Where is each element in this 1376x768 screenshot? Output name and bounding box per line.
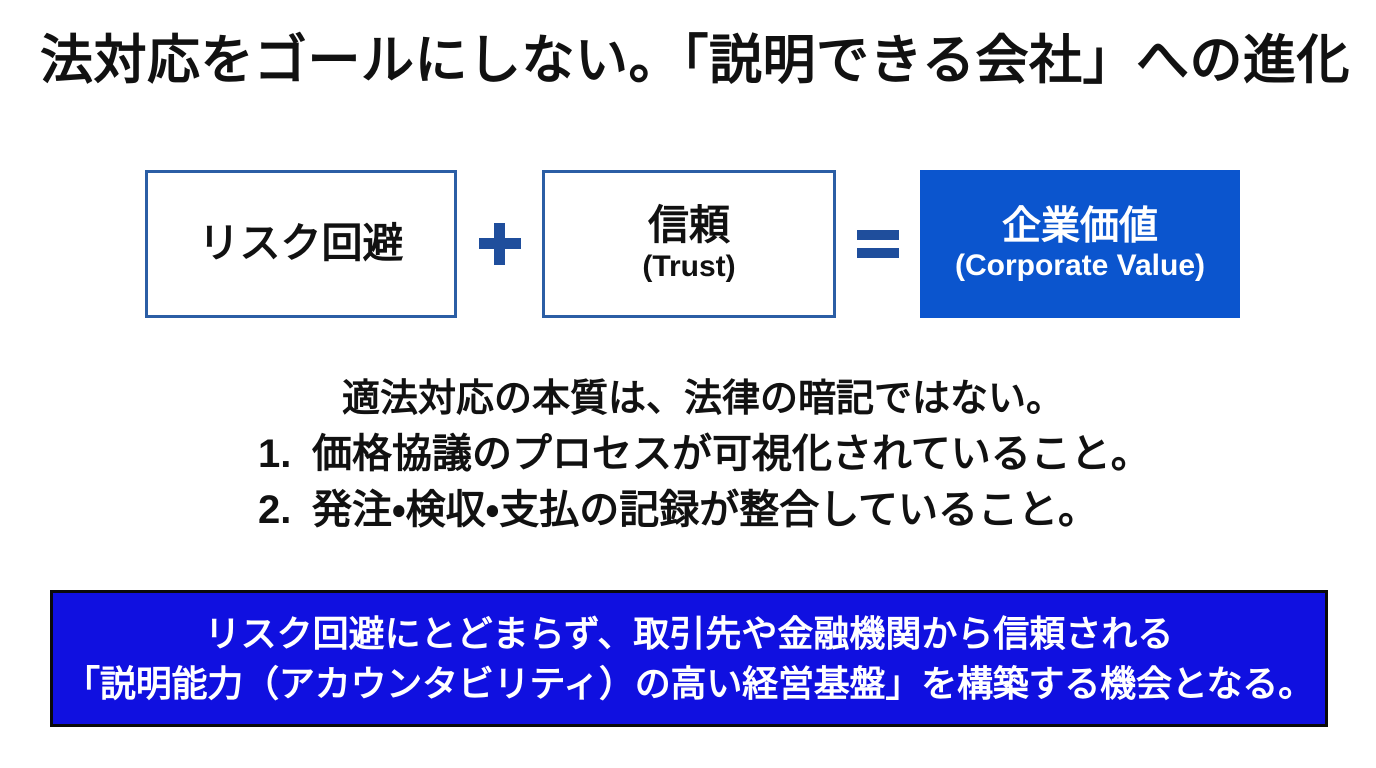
list-item-label: 価格協議のプロセスが可視化されていること。 — [312, 426, 1151, 482]
plus-icon — [479, 223, 521, 265]
equation-box-risk-main: リスク回避 — [199, 222, 404, 265]
list-item: 1. 価格協議のプロセスが可視化されていること。 — [0, 426, 1376, 482]
list-item-marker: 2. — [258, 482, 312, 538]
body-heading: 適法対応の本質は、法律の暗記ではない。 — [0, 372, 1376, 426]
equation-box-trust: 信頼 (Trust) — [542, 170, 836, 318]
body-block: 適法対応の本質は、法律の暗記ではない。 1. 価格協議のプロセスが可視化されてい… — [0, 372, 1376, 538]
conclusion-banner-line-2: 「説明能力（アカウンタビリティ）の高い経営基盤」を構築する機会となる。 — [64, 659, 1314, 709]
equation-box-corporate-value: 企業価値 (Corporate Value) — [920, 170, 1240, 318]
equals-icon — [857, 229, 899, 259]
equation-box-corporate-value-sub: (Corporate Value) — [955, 249, 1205, 283]
body-list: 1. 価格協議のプロセスが可視化されていること。 2. 発注・検収・支払の記録が… — [0, 426, 1376, 538]
slide-canvas: 法対応をゴールにしない。「説明できる会社」への進化 リスク回避 信頼 (Trus… — [0, 0, 1376, 768]
value-equation: リスク回避 信頼 (Trust) 企業価値 (Corporate Value) — [0, 170, 1376, 320]
equation-box-risk: リスク回避 — [145, 170, 457, 318]
conclusion-banner-line-1: リスク回避にとどまらず、取引先や金融機関から信頼される — [205, 609, 1174, 659]
plus-operator — [457, 170, 542, 318]
equation-box-corporate-value-main: 企業価値 — [1002, 206, 1158, 247]
equation-box-trust-main: 信頼 — [648, 204, 730, 247]
list-item: 2. 発注・検収・支払の記録が整合していること。 — [0, 482, 1376, 538]
conclusion-banner: リスク回避にとどまらず、取引先や金融機関から信頼される 「説明能力（アカウンタビ… — [50, 590, 1328, 727]
equals-operator — [836, 170, 920, 318]
equation-box-trust-sub: (Trust) — [642, 250, 735, 284]
page-title: 法対応をゴールにしない。「説明できる会社」への進化 — [40, 29, 1340, 93]
list-item-marker: 1. — [258, 426, 312, 482]
list-item-label: 発注・検収・支払の記録が整合していること。 — [312, 482, 1098, 538]
